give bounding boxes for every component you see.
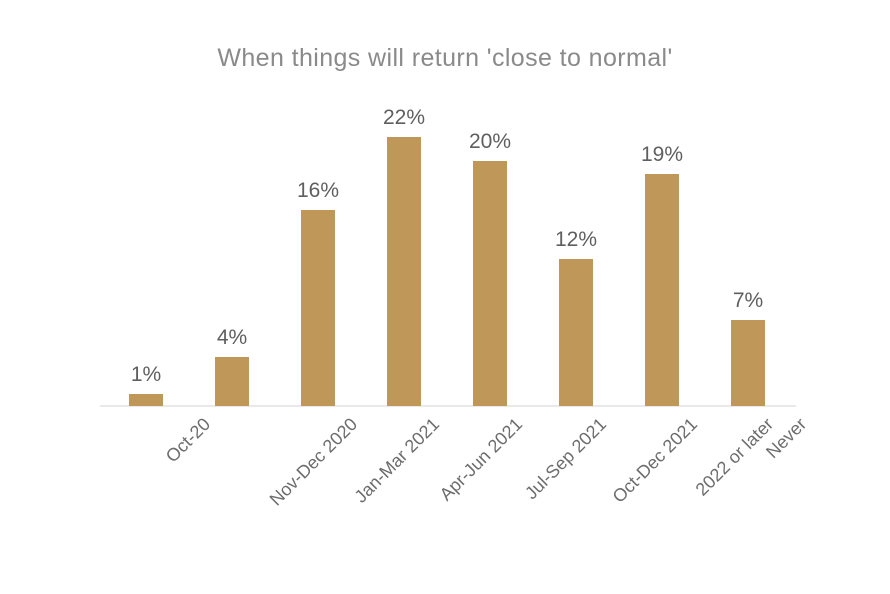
- x-axis-tick-label: Oct-20: [162, 414, 215, 467]
- bar-rect[interactable]: [731, 320, 765, 406]
- bar-chart: When things will return 'close to normal…: [0, 0, 890, 594]
- x-axis-tick-label-text: Nov-Dec 2020: [266, 414, 362, 510]
- x-axis-tick-label-text: 2022 or later: [692, 414, 778, 500]
- x-axis-tick-label: Jul-Sep 2021: [521, 414, 611, 504]
- bar-rect[interactable]: [645, 174, 679, 406]
- bar-group: 7%: [731, 320, 765, 406]
- bar-group: 19%: [645, 174, 679, 406]
- x-axis-tick-label: 2022 or later: [692, 414, 778, 500]
- bar-value-label: 1%: [131, 363, 161, 387]
- bar-group: 16%: [301, 210, 335, 406]
- x-axis-tick-label-text: Apr-Jun 2021: [436, 414, 527, 505]
- bar-value-label: 19%: [641, 143, 683, 167]
- x-axis-tick-label-text: Jan-Mar 2021: [351, 414, 444, 507]
- bar-group: 22%: [387, 137, 421, 406]
- bar-group: 1%: [129, 394, 163, 406]
- bar-value-label: 20%: [469, 130, 511, 154]
- bar-value-label: 22%: [383, 106, 425, 130]
- bar-value-label: 16%: [297, 179, 339, 203]
- x-axis-tick-label: Oct-Dec 2021: [609, 414, 702, 507]
- bar-value-label: 7%: [733, 289, 763, 313]
- bar-rect[interactable]: [129, 394, 163, 406]
- bar-value-label: 4%: [217, 326, 247, 350]
- x-axis-tick-label: Apr-Jun 2021: [436, 414, 527, 505]
- bar-rect[interactable]: [215, 357, 249, 406]
- x-axis-tick-label-text: Oct-20: [162, 414, 215, 467]
- bar-rect[interactable]: [559, 259, 593, 406]
- x-axis-tick-label: Jan-Mar 2021: [351, 414, 444, 507]
- x-axis-baseline: [100, 405, 796, 407]
- bar-group: 4%: [215, 357, 249, 406]
- plot-area: 1% 4% 16% 22% 20% 12% 19% 7%: [0, 0, 890, 594]
- x-axis-tick-label-text: Jul-Sep 2021: [521, 414, 611, 504]
- bar-rect[interactable]: [387, 137, 421, 406]
- bar-rect[interactable]: [301, 210, 335, 406]
- bar-value-label: 12%: [555, 228, 597, 252]
- x-axis-tick-label: Nov-Dec 2020: [266, 414, 362, 510]
- bar-group: 12%: [559, 259, 593, 406]
- bar-group: 20%: [473, 161, 507, 406]
- bar-rect[interactable]: [473, 161, 507, 406]
- x-axis-tick-label-text: Oct-Dec 2021: [609, 414, 702, 507]
